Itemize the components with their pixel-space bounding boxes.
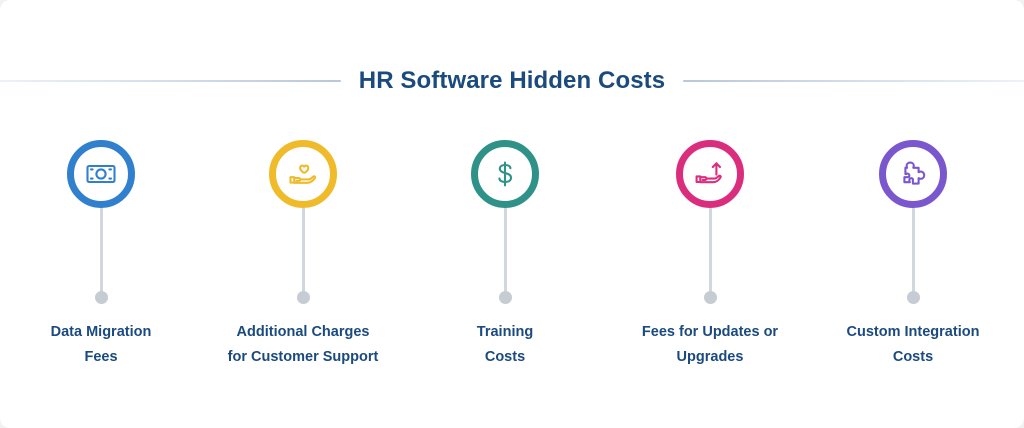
page-title: HR Software Hidden Costs	[359, 67, 665, 95]
connector-dot	[907, 291, 920, 304]
cost-item[interactable]: Additional Chargesfor Customer Support	[203, 140, 403, 380]
connector-line	[709, 208, 712, 292]
cost-item[interactable]: TrainingCosts	[405, 140, 605, 380]
puzzle-piece-icon	[896, 157, 930, 191]
connector-line	[302, 208, 305, 292]
cost-item-label-line2: Costs	[405, 345, 605, 370]
infographic-card: HR Software Hidden Costs Data MigrationF…	[0, 0, 1024, 428]
connector-line	[912, 208, 915, 292]
cost-item-label-line2: Upgrades	[610, 345, 810, 370]
connector-line	[100, 208, 103, 292]
icon-circle[interactable]	[471, 140, 539, 208]
icon-circle[interactable]	[879, 140, 947, 208]
header-rule-left	[0, 80, 341, 82]
connector-dot	[704, 291, 717, 304]
connector-dot	[95, 291, 108, 304]
cost-item-label: Fees for Updates orUpgrades	[610, 320, 810, 370]
banknote-icon	[84, 157, 118, 191]
cost-item-label: Additional Chargesfor Customer Support	[203, 320, 403, 370]
icon-circle[interactable]	[676, 140, 744, 208]
cost-item-label: TrainingCosts	[405, 320, 605, 370]
connector-dot	[499, 291, 512, 304]
cost-item[interactable]: Custom IntegrationCosts	[813, 140, 1013, 380]
connector-dot	[297, 291, 310, 304]
header: HR Software Hidden Costs	[0, 60, 1024, 102]
cost-item[interactable]: Data MigrationFees	[1, 140, 201, 380]
cost-item-label-line1: Custom Integration	[847, 324, 980, 340]
cost-item-label: Data MigrationFees	[1, 320, 201, 370]
header-rule-right	[683, 80, 1024, 82]
cost-item-label-line2: Fees	[1, 345, 201, 370]
cost-item-label-line1: Fees for Updates or	[642, 324, 778, 340]
cost-item-label-line2: for Customer Support	[203, 345, 403, 370]
cost-item-label: Custom IntegrationCosts	[813, 320, 1013, 370]
dollar-sign-icon	[488, 157, 522, 191]
hand-heart-icon	[286, 157, 320, 191]
connector-line	[504, 208, 507, 292]
cost-items-row: Data MigrationFeesAdditional Chargesfor …	[0, 140, 1024, 380]
icon-circle[interactable]	[67, 140, 135, 208]
cost-item-label-line1: Additional Charges	[237, 324, 370, 340]
cost-item-label-line1: Data Migration	[51, 324, 152, 340]
cost-item[interactable]: Fees for Updates orUpgrades	[610, 140, 810, 380]
hand-up-arrow-icon	[693, 157, 727, 191]
cost-item-label-line1: Training	[477, 324, 533, 340]
icon-circle[interactable]	[269, 140, 337, 208]
cost-item-label-line2: Costs	[813, 345, 1013, 370]
